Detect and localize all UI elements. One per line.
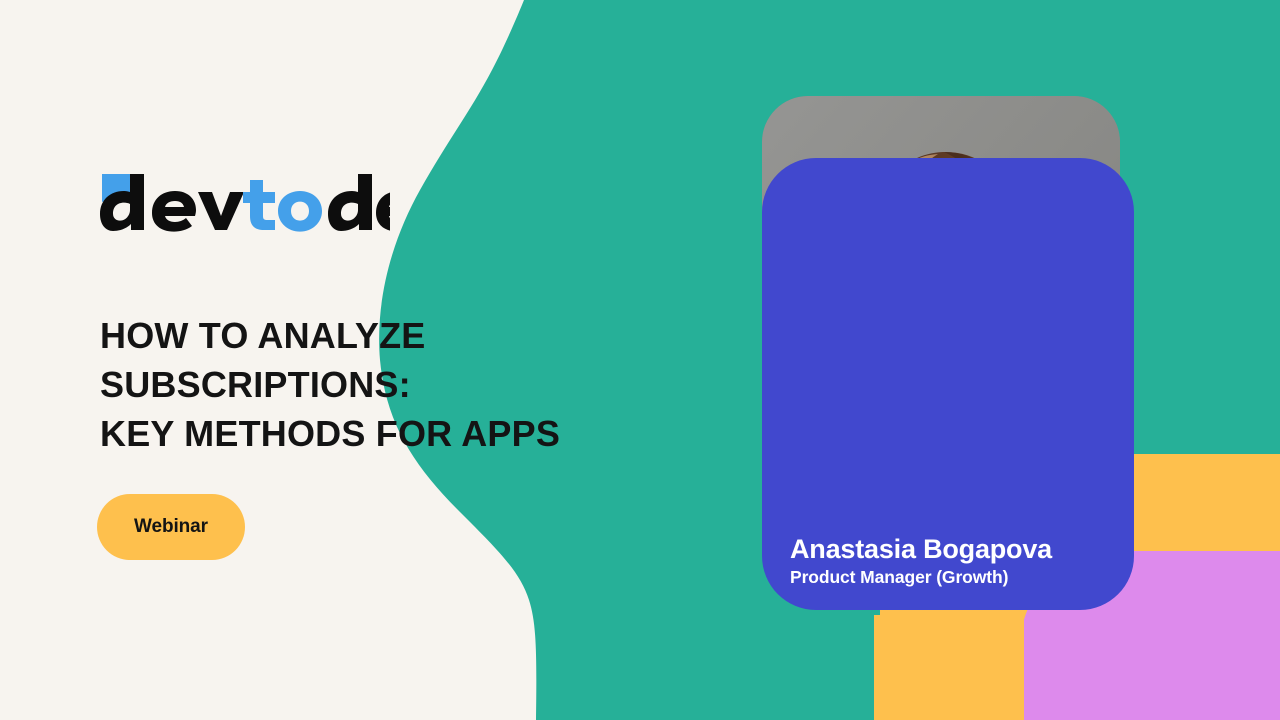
- speaker-details: Anastasia Bogapova Product Manager (Grow…: [790, 534, 1130, 588]
- webinar-badge-label: Webinar: [134, 516, 208, 538]
- headline-line-3: KEY METHODS FOR APPS: [100, 409, 700, 458]
- page-title: HOW TO ANALYZE SUBSCRIPTIONS: KEY METHOD…: [100, 311, 700, 458]
- webinar-slide: Anastasia Bogapova Product Manager (Grow…: [0, 0, 1280, 720]
- logo-letter-v: [198, 192, 244, 230]
- devtodev-logo[interactable]: devtodev: [100, 172, 390, 234]
- logo-letter-e: [152, 191, 196, 232]
- webinar-badge[interactable]: Webinar: [97, 494, 245, 560]
- logo-letter-o: [278, 191, 322, 232]
- yellow-accent-block-lower: [874, 615, 1024, 720]
- logo-letter-e2: [376, 191, 390, 232]
- speaker-role: Product Manager (Growth): [790, 567, 1130, 588]
- logo-letter-t: [243, 180, 275, 230]
- headline-line-2: SUBSCRIPTIONS:: [100, 360, 700, 409]
- headline-line-1: HOW TO ANALYZE: [100, 311, 700, 360]
- logo-letter-d2: [328, 174, 372, 231]
- speaker-name: Anastasia Bogapova: [790, 534, 1130, 565]
